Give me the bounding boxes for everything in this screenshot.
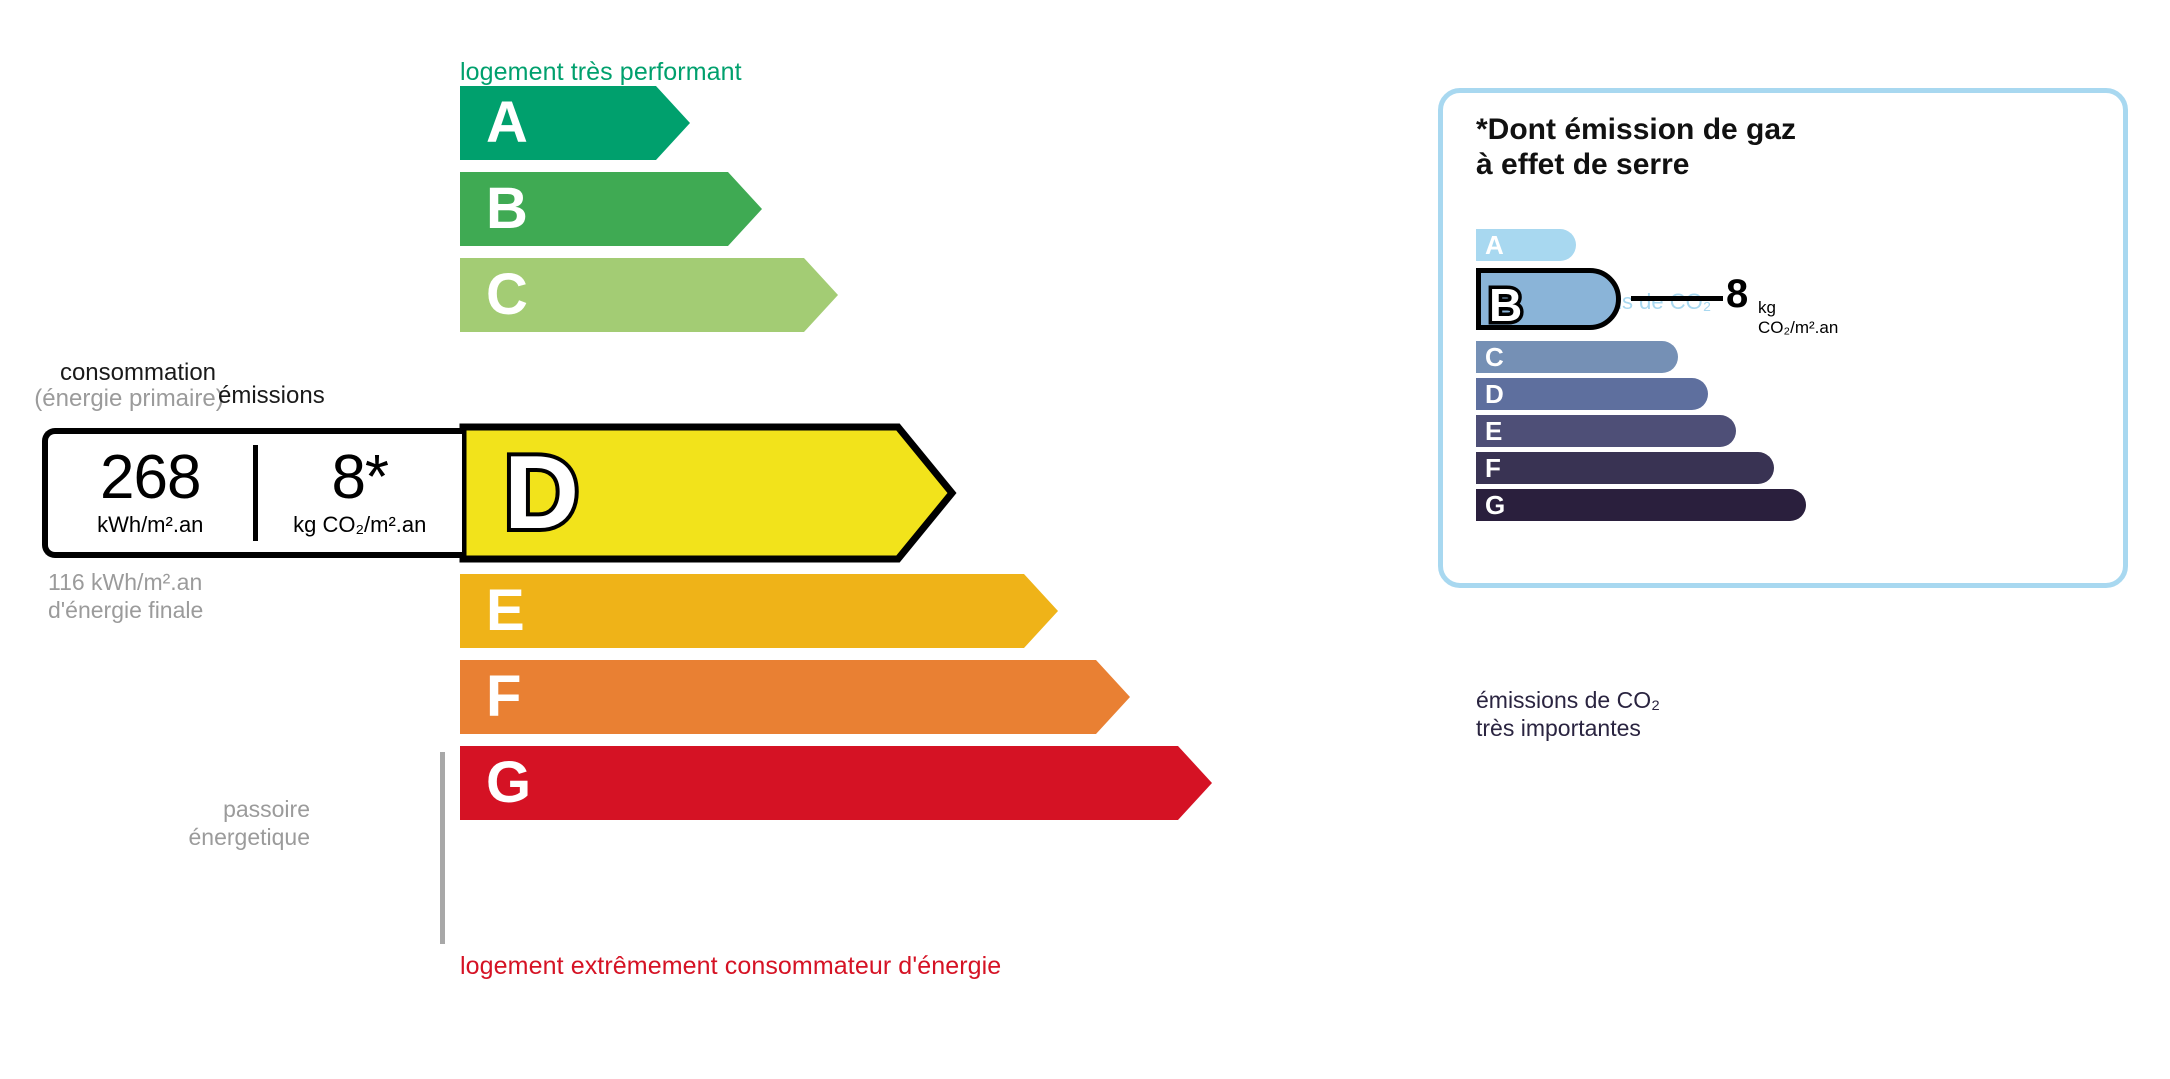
energy-bar-letter-d: D [504,435,579,551]
energy-bar-d-selected[interactable]: D [460,424,956,562]
co2-bar-b-selected[interactable]: B [1476,268,1621,330]
co2-bar-letter-c: C [1485,344,1504,370]
co2-bar-letter-e: E [1485,418,1502,444]
co2-bar-c[interactable]: C [1476,341,1678,373]
energy-bar-c[interactable]: C [460,258,838,332]
energy-bar-b[interactable]: B [460,172,762,246]
consumption-label-line2: (énergie primaire) [30,386,228,412]
energy-bar-letter-c: C [486,266,528,324]
co2-bottom-line1: émissions de CO₂ [1476,687,1660,715]
consumption-label: consommation (énergie primaire) [48,360,228,413]
co2-bottom-line2: très importantes [1476,715,1660,743]
co2-bar-f[interactable]: F [1476,452,1774,484]
co2-selected-value: 8 [1726,274,1748,314]
primary-energy-cell: 268 kWh/m².an [48,448,253,538]
passoire-line2: énergetique [140,823,310,851]
final-energy-label: 116 kWh/m².an d'énergie finale [48,568,203,624]
co2-leader-line [1631,296,1723,301]
co2-bar-letter-f: F [1485,455,1501,481]
energy-performance-chart: logement très performant A B [0,0,1380,1079]
co2-bar-a[interactable]: A [1476,229,1576,261]
final-energy-line1: 116 kWh/m².an [48,568,203,596]
energy-bar-a[interactable]: A [460,86,690,160]
consumption-value-box: 268 kWh/m².an 8* kg CO₂/m².an [42,428,462,558]
energy-bar-letter-g: G [486,754,531,812]
co2-bar-g[interactable]: G [1476,489,1806,521]
energy-bar-f[interactable]: F [460,660,1130,734]
passoire-line1: passoire [140,795,310,823]
co2-bar-d[interactable]: D [1476,378,1708,410]
co2-bar-letter-b: B [1489,279,1522,331]
co2-panel-title: *Dont émission de gaz à effet de serre [1476,112,1796,182]
energy-bottom-caption: logement extrêmement consommateur d'éner… [460,952,1001,981]
final-energy-line2: d'énergie finale [48,596,203,624]
primary-energy-value: 268 [48,448,253,509]
energy-bar-letter-a: A [486,94,528,152]
energy-bar-letter-f: F [486,668,521,726]
primary-energy-unit: kWh/m².an [48,512,253,538]
emissions-label: émissions [218,382,325,410]
co2-title-line2: à effet de serre [1476,147,1796,182]
passoire-indicator-rule [440,752,445,944]
co2-selected-unit: kg CO₂/m².an [1758,298,1838,338]
energy-bar-g[interactable]: G [460,746,1212,820]
energy-bar-e[interactable]: E [460,574,1058,648]
co2-bar-letter-a: A [1485,232,1504,258]
dpe-diagram: logement très performant A B [0,0,2170,1079]
co2-emission-value: 8* [258,448,463,509]
energy-bar-letter-e: E [486,582,525,640]
co2-bar-letter-d: D [1485,381,1504,407]
co2-emission-cell: 8* kg CO₂/m².an [258,448,463,538]
passoire-label: passoire énergetique [140,795,310,851]
consumption-label-line1: consommation [60,359,216,386]
co2-emission-unit: kg CO₂/m².an [258,512,463,538]
co2-emissions-panel: *Dont émission de gaz à effet de serre p… [1438,88,2128,588]
co2-title-line1: *Dont émission de gaz [1476,112,1796,147]
co2-bar-letter-g: G [1485,492,1505,518]
co2-bar-e[interactable]: E [1476,415,1736,447]
energy-bar-letter-b: B [486,180,528,238]
co2-bottom-caption: émissions de CO₂ très importantes [1476,687,1660,742]
